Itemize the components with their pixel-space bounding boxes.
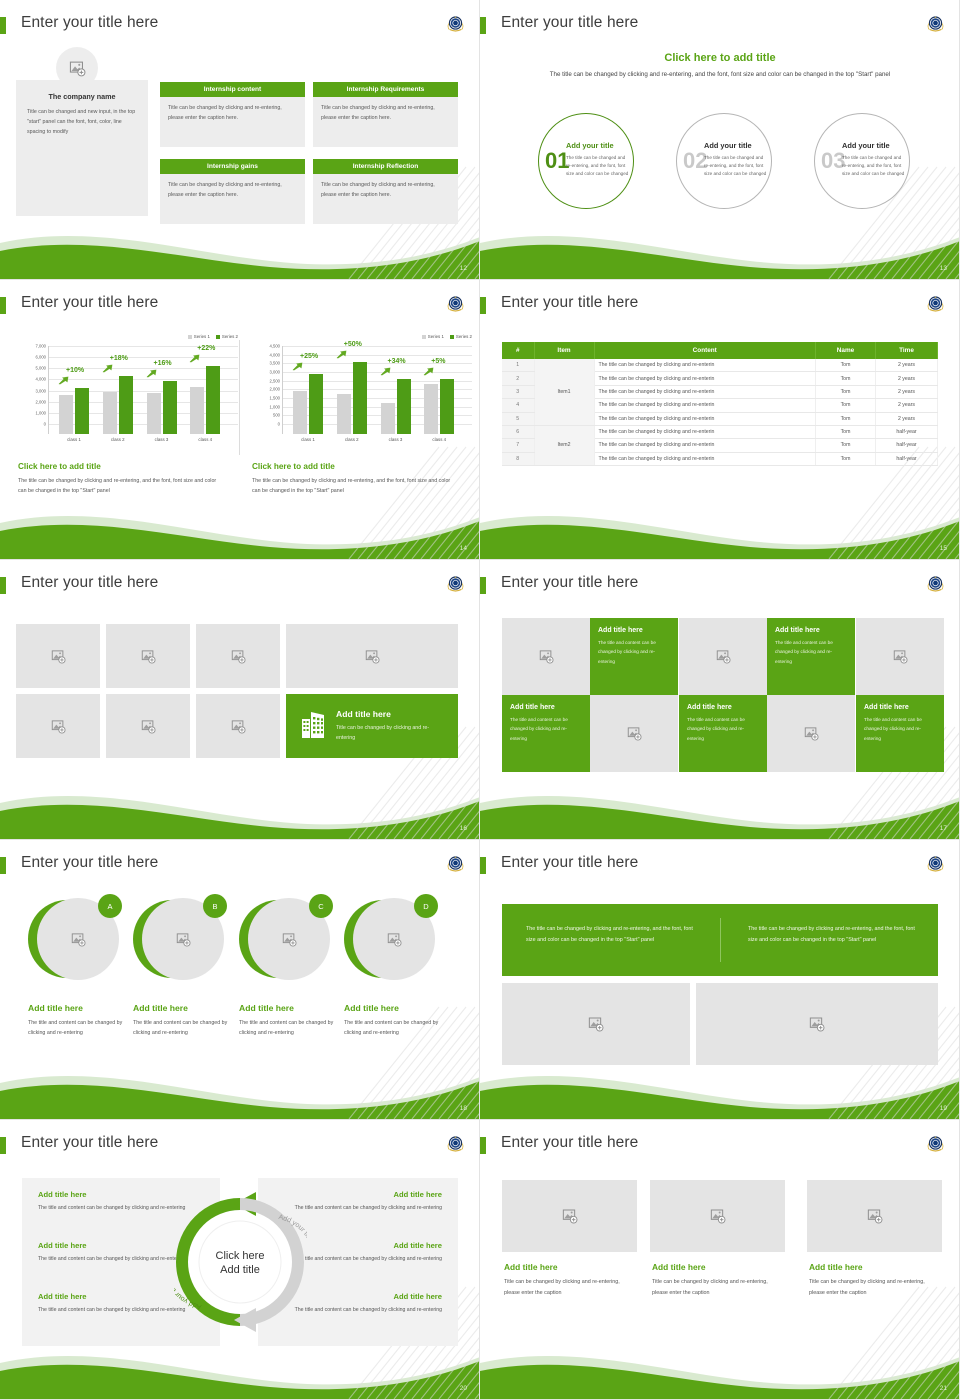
table-cell-index: 8	[502, 452, 534, 465]
add-image-icon	[588, 1016, 604, 1032]
slide-data-table[interactable]: Enter your title here 15#ItemContentName…	[480, 280, 960, 560]
feature-icon-wrap	[300, 709, 326, 744]
block-body: The title and content can be changed by …	[38, 1254, 188, 1264]
title-accent-bar	[0, 577, 6, 594]
block-title: Add title here	[292, 1241, 442, 1250]
slide-three-image-cards[interactable]: Enter your title here 21 Add title here …	[480, 1120, 960, 1400]
table-cell-time: half-year	[876, 439, 938, 452]
school-emblem-logo	[926, 294, 945, 313]
page-title: Enter your title here	[21, 574, 158, 592]
bar-series-2	[440, 379, 454, 434]
card-title: Add title here	[652, 1262, 783, 1272]
growth-label: +5%	[431, 358, 445, 365]
info-cell-title: Internship content	[160, 82, 305, 97]
table-cell-name: Tom	[816, 372, 876, 385]
page-title: Enter your title here	[21, 294, 158, 312]
logo	[446, 1134, 465, 1153]
table-cell-name: Tom	[816, 425, 876, 438]
step-title: Add your title	[704, 141, 752, 150]
y-axis-tick: 1,000	[270, 404, 280, 409]
logo	[926, 294, 945, 313]
image-card[interactable]: Add title here Title can be changed by c…	[807, 1180, 942, 1298]
step-title: Add your title	[566, 141, 614, 150]
mosaic-tile-body: The title and content can be changed by …	[510, 715, 582, 743]
slide-deck-contact-sheet: Enter your title here 12 The company nam…	[0, 0, 960, 1400]
company-image-placeholder[interactable]	[56, 47, 98, 89]
section-subheading: The title can be changed by clicking and…	[480, 70, 960, 81]
chart-legend: Series 1Series 2	[416, 334, 472, 339]
page-title: Enter your title here	[501, 14, 638, 32]
image-placeholder-left[interactable]	[502, 983, 690, 1065]
y-axis-tick: 6,000	[36, 355, 46, 360]
title-accent-bar	[480, 297, 486, 314]
growth-label: +25%	[300, 353, 318, 360]
growth-arrow-icon	[58, 376, 69, 385]
add-image-icon	[69, 60, 86, 77]
slide-three-step-circles[interactable]: Enter your title here 13Click here to ad…	[480, 0, 960, 280]
bar-series-2	[119, 376, 133, 435]
circle-badge-graphic[interactable]: D	[344, 898, 444, 982]
logo	[446, 294, 465, 313]
mosaic-tile-image[interactable]	[856, 618, 944, 695]
page-title: Enter your title here	[501, 1134, 638, 1152]
card-body: Title can be changed by clicking and re-…	[652, 1277, 783, 1298]
bar-series-1	[381, 403, 395, 434]
growth-arrow-icon	[102, 364, 113, 373]
page-title: Enter your title here	[21, 14, 158, 32]
image-card[interactable]: Add title here Title can be changed by c…	[650, 1180, 785, 1298]
table-cell-index: 3	[502, 385, 534, 398]
growth-arrow-icon	[292, 362, 303, 371]
circle-caption: Add title here The title and content can…	[239, 1003, 339, 1038]
page-number: 19	[940, 1105, 947, 1112]
x-axis-tick: class 3	[147, 437, 177, 442]
mosaic-tile-body: The title and content can be changed by …	[864, 715, 936, 743]
school-emblem-logo	[926, 14, 945, 33]
mosaic-tile-title: Add title here	[510, 704, 582, 711]
company-heading: The company name	[27, 92, 137, 101]
growth-label: +10%	[66, 367, 84, 374]
chart-legend: Series 1Series 2	[182, 334, 238, 339]
bar-series-1	[59, 395, 73, 434]
page-title: Enter your title here	[501, 294, 638, 312]
step-body: The title can be changed and re-entering…	[704, 154, 770, 178]
add-image-icon	[365, 649, 380, 664]
add-image-icon	[141, 649, 156, 664]
y-axis-tick: 1,500	[270, 396, 280, 401]
circle-caption-title: Add title here	[239, 1003, 339, 1013]
table-cell-content: The title can be changed by clicking and…	[594, 372, 816, 385]
growth-label: +16%	[154, 360, 172, 367]
growth-label: +18%	[110, 355, 128, 362]
bar-series-1	[190, 387, 204, 434]
y-axis-tick: 3,000	[270, 370, 280, 375]
info-cell-body: Title can be changed by clicking and re-…	[313, 97, 458, 147]
circle-caption: Add title here The title and content can…	[133, 1003, 233, 1038]
y-axis-tick: 2,000	[36, 399, 46, 404]
data-table: #ItemContentNameTime 1 Item1 The title c…	[502, 342, 938, 466]
mosaic-tile-text[interactable]: Add title here The title and content can…	[767, 618, 855, 695]
feature-tile[interactable]: Add title here Title can be changed by c…	[286, 694, 458, 758]
add-image-icon	[710, 1208, 726, 1224]
add-image-icon	[539, 649, 554, 664]
table-cell-content: The title can be changed by clicking and…	[594, 439, 816, 452]
page-number: 14	[460, 545, 467, 552]
mosaic-tile-title: Add title here	[864, 704, 936, 711]
y-axis-tick: 0	[278, 422, 280, 427]
mosaic-tile-body: The title and content can be changed by …	[598, 638, 670, 666]
logo	[926, 574, 945, 593]
add-image-icon	[809, 1016, 825, 1032]
page-number: 16	[460, 825, 467, 832]
y-axis-tick: 3,500	[270, 361, 280, 366]
circle-caption-body: The title and content can be changed by …	[239, 1018, 339, 1038]
image-placeholder-right[interactable]	[696, 983, 938, 1065]
mosaic-tile-body: The title and content can be changed by …	[775, 638, 847, 666]
company-body: Title can be changed and new input, in t…	[27, 108, 137, 137]
gridline	[49, 357, 238, 358]
add-image-icon	[804, 726, 819, 741]
mosaic-tile-text[interactable]: Add title here The title and content can…	[679, 695, 767, 772]
school-emblem-logo	[446, 14, 465, 33]
y-axis-tick: 4,000	[36, 377, 46, 382]
table-cell-content: The title can be changed by clicking and…	[594, 385, 816, 398]
info-cell-title: Internship Reflection	[313, 159, 458, 174]
card-image-placeholder[interactable]	[502, 1180, 637, 1252]
growth-arrow-icon	[146, 369, 157, 378]
card-body: Title can be changed by clicking and re-…	[504, 1277, 635, 1298]
growth-arrow-icon	[189, 354, 200, 363]
bar-series-2	[163, 381, 177, 434]
page-title: Enter your title here	[501, 574, 638, 592]
x-axis-tick: class 2	[337, 437, 367, 442]
diagram-block-right[interactable]: Add title here The title and content can…	[292, 1241, 442, 1264]
chart-caption-title: Click here to add title	[252, 462, 335, 471]
add-image-icon	[51, 649, 66, 664]
x-axis-tick: class 4	[190, 437, 220, 442]
bar-series-2	[206, 366, 220, 434]
diagram-block-right[interactable]: Add title here The title and content can…	[292, 1292, 442, 1315]
table-header: Name	[816, 342, 876, 359]
title-accent-bar	[0, 857, 6, 874]
step-body: The title can be changed and re-entering…	[842, 154, 908, 178]
info-cell[interactable]: Internship gains Title can be changed by…	[160, 159, 305, 224]
chart-divider	[239, 340, 240, 455]
gridline	[283, 346, 472, 347]
logo	[446, 854, 465, 873]
table-cell-item: Item1	[534, 359, 594, 425]
y-axis-tick: 4,000	[270, 352, 280, 357]
school-emblem-logo	[446, 1134, 465, 1153]
table-cell-time: half-year	[876, 425, 938, 438]
table-cell-content: The title can be changed by clicking and…	[594, 359, 816, 372]
page-number: 17	[940, 825, 947, 832]
diagram-block-left[interactable]: Add title here The title and content can…	[38, 1190, 188, 1213]
table-cell-name: Tom	[816, 452, 876, 465]
table-cell-time: 2 years	[876, 412, 938, 425]
image-card[interactable]: Add title here Title can be changed by c…	[502, 1180, 637, 1298]
band-text-left: The title can be changed by clicking and…	[526, 924, 701, 946]
table-cell-time: 2 years	[876, 385, 938, 398]
table-cell-index: 2	[502, 372, 534, 385]
image-placeholder[interactable]	[196, 624, 280, 688]
slide-checkerboard-mosaic[interactable]: Enter your title here 17 Add title here …	[480, 560, 960, 840]
table-header: #	[502, 342, 534, 359]
diagram-center-line2: Add title	[220, 1264, 260, 1276]
info-cell-title: Internship Requirements	[313, 82, 458, 97]
slide-internship-overview[interactable]: Enter your title here 12 The company nam…	[0, 0, 480, 280]
bar-group: class 3	[147, 381, 177, 434]
table-cell-item: Item2	[534, 425, 594, 465]
building-icon	[300, 709, 326, 739]
circle-badge-letter: A	[98, 894, 122, 918]
block-body: The title and content can be changed by …	[292, 1254, 442, 1264]
bar-group: class 4	[424, 379, 454, 434]
slide-two-bar-charts[interactable]: Enter your title here 14 Series 1Series …	[0, 280, 480, 560]
title-accent-bar	[480, 857, 486, 874]
band-divider	[720, 918, 721, 962]
diagram-block-left[interactable]: Add title here The title and content can…	[38, 1241, 188, 1264]
image-placeholder-wide[interactable]	[286, 624, 458, 688]
diagram-block-right[interactable]: Add title here The title and content can…	[292, 1190, 442, 1213]
add-image-icon	[176, 932, 191, 947]
table-cell-name: Tom	[816, 399, 876, 412]
chart-caption-title: Click here to add title	[18, 462, 101, 471]
table-cell-index: 4	[502, 399, 534, 412]
x-axis-tick: class 2	[103, 437, 133, 442]
school-emblem-logo	[446, 854, 465, 873]
mosaic-tile-title: Add title here	[687, 704, 759, 711]
school-emblem-logo	[926, 574, 945, 593]
image-placeholder[interactable]	[106, 694, 190, 758]
school-emblem-logo	[446, 294, 465, 313]
slide-image-grid-with-feature[interactable]: Enter your title here 16	[0, 560, 480, 840]
table-row[interactable]: 1 Item1 The title can be changed by clic…	[502, 359, 938, 372]
table-cell-index: 6	[502, 425, 534, 438]
add-image-icon	[562, 1208, 578, 1224]
table-cell-name: Tom	[816, 439, 876, 452]
growth-arrow-icon	[336, 350, 347, 359]
page-title: Enter your title here	[501, 854, 638, 872]
block-body: The title and content can be changed by …	[292, 1203, 442, 1213]
bar-series-1	[147, 393, 161, 434]
circle-badge-letter: D	[414, 894, 438, 918]
table-cell-name: Tom	[816, 412, 876, 425]
bar-group: class 3	[381, 379, 411, 434]
bar-series-2	[397, 379, 411, 434]
bar-series-2	[309, 374, 323, 434]
bar-group: class 2	[337, 362, 367, 434]
card-image-placeholder[interactable]	[807, 1180, 942, 1252]
table-cell-index: 7	[502, 439, 534, 452]
table-header: Item	[534, 342, 594, 359]
mosaic-tile-image[interactable]	[590, 695, 678, 772]
table-cell-content: The title can be changed by clicking and…	[594, 399, 816, 412]
x-axis-tick: class 1	[293, 437, 323, 442]
mosaic-tile-image[interactable]	[767, 695, 855, 772]
bar-group: class 4	[190, 366, 220, 434]
card-title: Add title here	[504, 1262, 635, 1272]
circle-caption: Add title here The title and content can…	[344, 1003, 444, 1038]
y-axis-tick: 1,000	[36, 410, 46, 415]
x-axis-tick: class 4	[424, 437, 454, 442]
page-number: 20	[460, 1385, 467, 1392]
step-title: Add your title	[842, 141, 890, 150]
page-number: 21	[940, 1385, 947, 1392]
slide-green-band-two-images[interactable]: Enter your title here 19 The title can b…	[480, 840, 960, 1120]
block-body: The title and content can be changed by …	[38, 1203, 188, 1213]
diagram-center-line1: Click here	[216, 1250, 265, 1262]
bar-series-1	[293, 391, 307, 434]
table-cell-name: Tom	[816, 385, 876, 398]
y-axis-tick: 0	[44, 422, 46, 427]
add-image-icon	[282, 932, 297, 947]
image-placeholder[interactable]	[106, 624, 190, 688]
bar-chart: Series 1Series 205001,0001,5002,0002,500…	[252, 342, 474, 452]
logo	[446, 14, 465, 33]
add-image-icon	[71, 932, 86, 947]
bar-series-1	[103, 392, 117, 434]
chart-plot-area: 01,0002,0003,0004,0005,0006,0007,000 cla…	[48, 346, 238, 434]
table-cell-index: 1	[502, 359, 534, 372]
add-image-icon	[51, 719, 66, 734]
circle-badge-graphic[interactable]: C	[239, 898, 339, 982]
block-title: Add title here	[38, 1241, 188, 1250]
y-axis-tick: 5,000	[36, 366, 46, 371]
circle-caption: Add title here The title and content can…	[28, 1003, 128, 1038]
info-cell[interactable]: Internship Requirements Title can be cha…	[313, 82, 458, 147]
circle-badge-graphic[interactable]: A	[28, 898, 128, 982]
table-cell-content: The title can be changed by clicking and…	[594, 412, 816, 425]
add-image-icon	[893, 649, 908, 664]
block-title: Add title here	[292, 1292, 442, 1301]
image-placeholder[interactable]	[16, 694, 100, 758]
add-image-icon	[867, 1208, 883, 1224]
title-accent-bar	[0, 17, 6, 34]
circle-badge-letter: B	[203, 894, 227, 918]
growth-arrow-icon	[423, 367, 434, 376]
bar-group: class 1	[293, 374, 323, 434]
growth-label: +34%	[388, 358, 406, 365]
title-accent-bar	[0, 1137, 6, 1154]
page-title: Enter your title here	[21, 854, 158, 872]
info-cell[interactable]: Internship content Title can be changed …	[160, 82, 305, 147]
chart-caption-body: The title can be changed by clicking and…	[252, 476, 457, 496]
bar-series-1	[424, 384, 438, 434]
company-card[interactable]: The company name Title can be changed an…	[16, 80, 148, 216]
mosaic-tile-image[interactable]	[502, 618, 590, 695]
bar-series-2	[75, 388, 89, 434]
chart-caption-body: The title can be changed by clicking and…	[18, 476, 223, 496]
block-title: Add title here	[38, 1190, 188, 1199]
diagonal-stripes-decoration	[309, 439, 479, 559]
x-axis-tick: class 1	[59, 437, 89, 442]
page-number: 13	[940, 265, 947, 272]
circle-caption-title: Add title here	[344, 1003, 444, 1013]
circle-caption-title: Add title here	[133, 1003, 233, 1013]
circle-caption-body: The title and content can be changed by …	[133, 1018, 233, 1038]
logo	[926, 1134, 945, 1153]
band-text-right: The title can be changed by clicking and…	[748, 924, 923, 946]
table-cell-index: 5	[502, 412, 534, 425]
logo	[926, 854, 945, 873]
add-image-icon	[387, 932, 402, 947]
slide-circular-arrow-diagram[interactable]: Enter your title here 20 Add title here …	[0, 1120, 480, 1400]
green-text-band[interactable]: The title can be changed by clicking and…	[502, 904, 938, 976]
table-cell-content: The title can be changed by clicking and…	[594, 452, 816, 465]
image-placeholder[interactable]	[196, 694, 280, 758]
circle-caption-title: Add title here	[28, 1003, 128, 1013]
mosaic-tile-title: Add title here	[775, 627, 847, 634]
info-cell-body: Title can be changed by clicking and re-…	[160, 97, 305, 147]
mosaic-tile-image[interactable]	[679, 618, 767, 695]
table-row[interactable]: 6 Item2 The title can be changed by clic…	[502, 425, 938, 438]
mosaic-tile-text[interactable]: Add title here The title and content can…	[856, 695, 944, 772]
y-axis-tick: 2,000	[270, 387, 280, 392]
info-cell-body: Title can be changed by clicking and re-…	[313, 174, 458, 224]
title-accent-bar	[0, 297, 6, 314]
table-cell-time: half-year	[876, 452, 938, 465]
logo	[446, 574, 465, 593]
bar-series-1	[337, 394, 351, 434]
growth-arrow-icon	[380, 367, 391, 376]
chart-plot-area: 05001,0001,5002,0002,5003,0003,5004,0004…	[282, 346, 472, 434]
block-body: The title and content can be changed by …	[38, 1305, 188, 1315]
bar-series-2	[353, 362, 367, 434]
y-axis-tick: 7,000	[36, 344, 46, 349]
circle-caption-body: The title and content can be changed by …	[28, 1018, 128, 1038]
y-axis-tick: 3,000	[36, 388, 46, 393]
bar-chart: Series 1Series 201,0002,0003,0004,0005,0…	[18, 342, 240, 452]
mosaic-tile-text[interactable]: Add title here The title and content can…	[502, 695, 590, 772]
card-title: Add title here	[809, 1262, 940, 1272]
school-emblem-logo	[446, 574, 465, 593]
block-body: The title and content can be changed by …	[292, 1305, 442, 1315]
school-emblem-logo	[926, 854, 945, 873]
table-cell-name: Tom	[816, 359, 876, 372]
bar-group: class 2	[103, 376, 133, 435]
mosaic-tile-text[interactable]: Add title here The title and content can…	[590, 618, 678, 695]
circular-arrow-diagram: Add your title here Add your title here …	[174, 1180, 307, 1343]
section-heading: Click here to add title	[480, 52, 960, 64]
feature-body: Title can be changed by clicking and re-…	[336, 723, 444, 743]
y-axis-tick: 2,500	[270, 378, 280, 383]
page-title: Enter your title here	[21, 1134, 158, 1152]
image-placeholder[interactable]	[16, 624, 100, 688]
step-body: The title can be changed and re-entering…	[566, 154, 632, 178]
page-number: 18	[460, 1105, 467, 1112]
diagram-block-left[interactable]: Add title here The title and content can…	[38, 1292, 188, 1315]
table-cell-time: 2 years	[876, 372, 938, 385]
add-image-icon	[231, 649, 246, 664]
mosaic-tile-body: The title and content can be changed by …	[687, 715, 759, 743]
card-image-placeholder[interactable]	[650, 1180, 785, 1252]
card-body: Title can be changed by clicking and re-…	[809, 1277, 940, 1298]
page-number: 15	[940, 545, 947, 552]
block-title: Add title here	[292, 1190, 442, 1199]
table-header: Content	[594, 342, 816, 359]
circle-badge-graphic[interactable]: B	[133, 898, 233, 982]
info-cell[interactable]: Internship Reflection Title can be chang…	[313, 159, 458, 224]
slide-four-circle-badges[interactable]: Enter your title here 18 A Add title her…	[0, 840, 480, 1120]
page-number: 12	[460, 265, 467, 272]
add-image-icon	[231, 719, 246, 734]
x-axis-tick: class 3	[381, 437, 411, 442]
title-accent-bar	[480, 1137, 486, 1154]
growth-label: +50%	[344, 341, 362, 348]
table-header: Time	[876, 342, 938, 359]
y-axis-tick: 500	[273, 413, 280, 418]
